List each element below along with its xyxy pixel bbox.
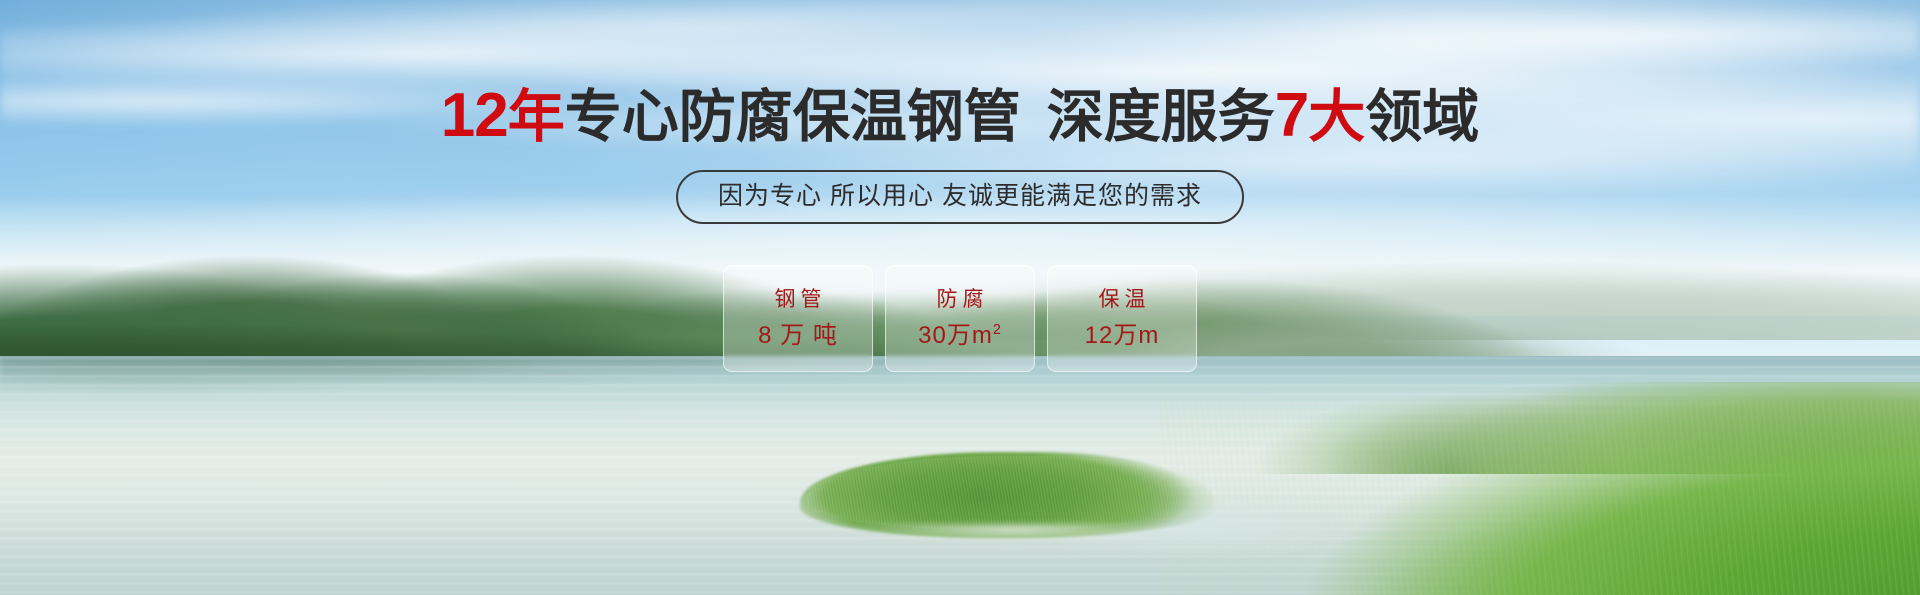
stat-value-base: 12万m: [1085, 322, 1160, 349]
stat-card-anticorrosion: 防腐 30万m2: [885, 265, 1035, 372]
stat-value-base: 8 万 吨: [758, 322, 838, 349]
stat-card-group: 钢管 8 万 吨 防腐 30万m2 保温 12万m: [723, 265, 1197, 372]
stat-card-steel-pipe: 钢管 8 万 吨: [723, 265, 873, 372]
banner-headline: 12年专心防腐保温钢管深度服务7大领域: [0, 85, 1920, 148]
stat-card-value: 12万m: [1085, 323, 1160, 349]
stat-card-label: 防腐: [932, 288, 989, 311]
hero-banner: 12年专心防腐保温钢管深度服务7大领域 因为专心 所以用心 友诚更能满足您的需求…: [0, 0, 1920, 595]
stat-card-value: 8 万 吨: [758, 323, 838, 349]
headline-years-number: 12: [441, 81, 508, 150]
stat-card-insulation: 保温 12万m: [1047, 265, 1197, 372]
headline-main-phrase: 专心防腐保温钢管: [565, 85, 1021, 149]
banner-subtitle-pill: 因为专心 所以用心 友诚更能满足您的需求: [676, 170, 1244, 224]
headline-fields-label: 领域: [1365, 85, 1479, 149]
stat-value-superscript: 2: [993, 322, 1002, 338]
headline-service-text: 深度服务: [1047, 85, 1275, 149]
stat-card-label: 保温: [1094, 288, 1151, 311]
banner-content: 12年专心防腐保温钢管深度服务7大领域 因为专心 所以用心 友诚更能满足您的需求…: [0, 0, 1920, 595]
headline-years-unit: 年: [508, 85, 565, 149]
stat-card-value: 30万m2: [918, 323, 1002, 349]
stat-value-base: 30万m: [918, 322, 993, 349]
stat-card-label: 钢管: [770, 288, 827, 311]
headline-fields-unit: 大: [1308, 85, 1365, 149]
headline-fields-number: 7: [1275, 81, 1308, 150]
